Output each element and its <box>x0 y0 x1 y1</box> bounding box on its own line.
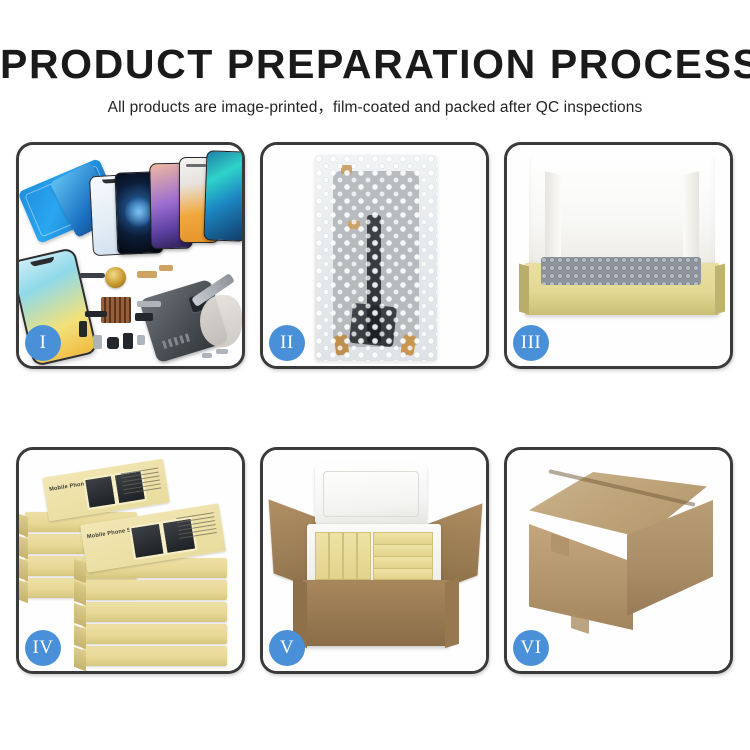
foam-lid-icon <box>315 464 427 526</box>
spare-part-icon <box>202 353 212 358</box>
step-badge-5: V <box>269 630 305 666</box>
spare-part-icon <box>137 301 161 307</box>
spare-part-icon <box>123 333 133 349</box>
spare-part-icon <box>93 335 102 349</box>
packed-yellow-box-icon <box>357 532 371 580</box>
spare-part-icon <box>79 321 87 337</box>
spare-part-icon <box>79 273 105 278</box>
spare-part-icon <box>135 313 153 321</box>
page-title: PRODUCT PREPARATION PROCESS <box>0 43 750 86</box>
wrapped-screen-icon <box>333 171 419 347</box>
spare-part-icon <box>85 311 107 317</box>
step-badge-1: I <box>25 325 61 361</box>
step-badge-6: VI <box>513 630 549 666</box>
carton-front-face-icon <box>529 524 633 630</box>
spare-part-icon <box>216 349 228 354</box>
bubble-wrap-bag-icon <box>315 155 437 361</box>
stacked-box-icon <box>83 602 227 622</box>
process-step-card-1: I <box>16 142 245 369</box>
product-preparation-process-page: PRODUCT PREPARATION PROCESS All products… <box>0 0 750 750</box>
step-badge-3: III <box>513 325 549 361</box>
circuit-board-part-icon <box>101 297 131 323</box>
copper-coil-part-icon <box>105 267 126 288</box>
tray-right-edge-icon <box>715 264 725 315</box>
box-label-text-lines <box>176 512 218 544</box>
stacked-box-icon <box>83 646 227 666</box>
tray-left-edge-icon <box>519 264 529 315</box>
spare-part-icon <box>107 337 119 349</box>
process-step-card-5: V <box>260 447 489 674</box>
step-badge-4: IV <box>25 630 61 666</box>
spare-part-icon <box>137 271 157 278</box>
tape-piece-icon <box>334 334 350 356</box>
page-subtitle: All products are image-printed，film-coat… <box>0 95 750 117</box>
spare-part-icon <box>137 335 145 345</box>
box-label-window-icon <box>83 474 118 510</box>
stacked-box-icon <box>83 624 227 644</box>
process-steps-grid: I II <box>16 142 734 674</box>
hand-icon <box>200 295 242 347</box>
tape-piece-icon <box>348 221 360 229</box>
connector-icon <box>349 303 397 347</box>
step-badge-2: II <box>269 325 305 361</box>
foam-liner-icon <box>307 524 441 586</box>
process-step-card-4: Mobile Phone Spare Parts Mobile Phone Sp… <box>16 447 245 674</box>
stacked-box-icon <box>83 580 227 600</box>
process-step-card-6: VI <box>504 447 733 674</box>
packed-yellow-box-icon <box>315 532 329 580</box>
bubble-wrap-content-icon <box>541 257 701 285</box>
phone-display-teal-icon <box>203 150 242 241</box>
process-step-card-3: III <box>504 142 733 369</box>
process-step-card-2: II <box>260 142 489 369</box>
tape-piece-icon <box>400 334 416 356</box>
spare-part-icon <box>159 265 173 271</box>
flex-cable-icon <box>367 215 381 343</box>
yellow-box-tray-icon <box>525 263 719 315</box>
box-label-window-icon <box>129 522 166 561</box>
box-label-text-lines <box>121 468 163 500</box>
packed-yellow-box-icon <box>373 568 433 580</box>
packed-yellow-box-icon <box>343 532 357 580</box>
white-box-lid-icon <box>529 157 715 269</box>
page-header: PRODUCT PREPARATION PROCESS All products… <box>0 0 750 117</box>
box-top-label: Mobile Phone Spare Parts <box>42 459 169 522</box>
tape-piece-icon <box>341 165 352 174</box>
carton-body-icon <box>303 580 449 646</box>
packed-yellow-box-icon <box>329 532 343 580</box>
